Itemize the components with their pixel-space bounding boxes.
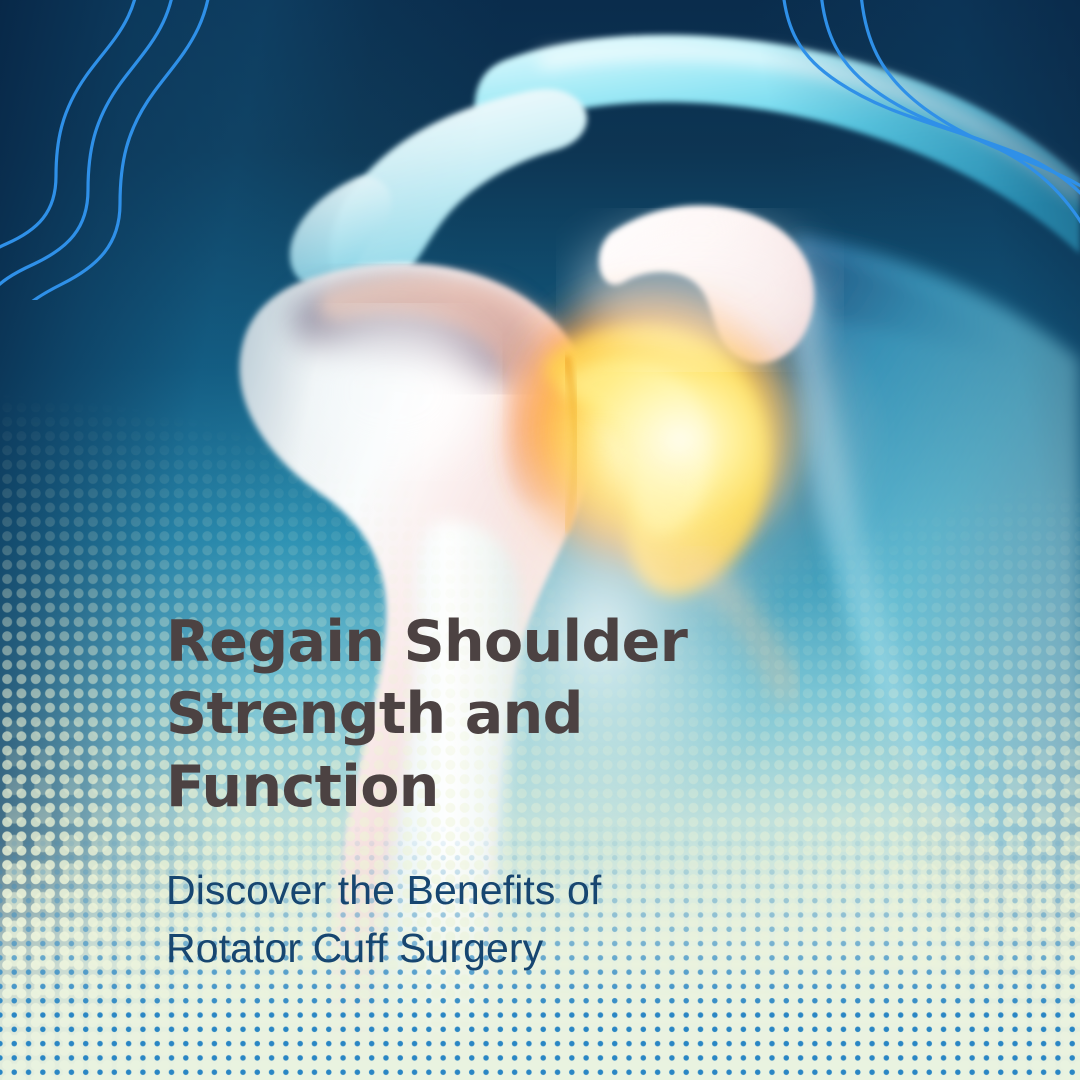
page-title: Regain Shoulder Strength and Function (166, 606, 806, 823)
poster-text-block: Regain Shoulder Strength and Function Di… (166, 606, 806, 978)
page-subtitle: Discover the Benefits of Rotator Cuff Su… (166, 823, 806, 977)
poster-canvas: Regain Shoulder Strength and Function Di… (0, 0, 1080, 1080)
